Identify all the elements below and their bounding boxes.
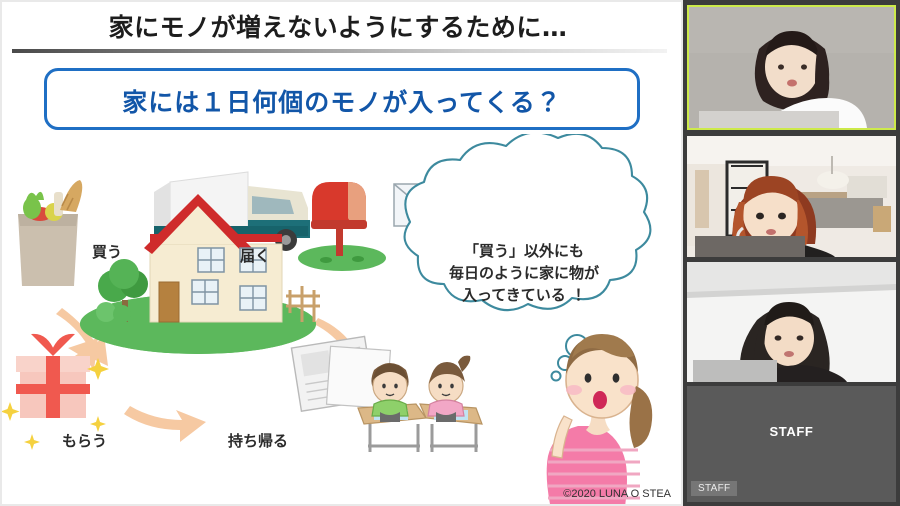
- mailbox-icon: [298, 182, 386, 271]
- copyright-notice: ©2020 LUNA O STEA: [563, 488, 671, 500]
- participant-1-video: [689, 7, 894, 128]
- participant-tile-4-placeholder[interactable]: STAFF STAFF: [687, 386, 896, 502]
- participant-tile-2[interactable]: [687, 136, 896, 257]
- arrow-from-school: [124, 406, 206, 442]
- shared-slide: 家にモノが増えないようにするために… 家には１日何個のモノが入ってくる？: [0, 0, 683, 506]
- placeholder-label: STAFF: [687, 424, 896, 439]
- label-receive: もらう: [62, 430, 107, 451]
- slide-title: 家にモノが増えないようにするために…: [2, 8, 674, 44]
- thought-trail-bubble-3: [552, 372, 561, 381]
- bubble-line-1: 「買う」以外にも: [464, 242, 584, 260]
- label-buy: 買う: [92, 241, 122, 262]
- participant-name-badge: STAFF: [691, 481, 737, 496]
- label-bring-home: 持ち帰る: [228, 430, 288, 451]
- participant-3-video: [687, 262, 896, 382]
- bubble-line-3: 入ってきている ！: [461, 286, 586, 304]
- label-delivered: 届く: [240, 245, 270, 266]
- bubble-line-2: 毎日のように家に物が: [449, 264, 600, 282]
- question-box: 家には１日何個のモノが入ってくる？: [44, 68, 640, 130]
- participant-video-rail: STAFF STAFF: [683, 0, 900, 506]
- meeting-screen-share-window: 家にモノが増えないようにするために… 家には１日何個のモノが入ってくる？: [0, 0, 900, 506]
- title-divider: [12, 49, 667, 53]
- question-box-text: 家には１日何個のモノが入ってくる？: [47, 83, 637, 119]
- participant-2-video: [687, 136, 896, 257]
- students-icon: [358, 356, 482, 452]
- participant-tile-1[interactable]: [687, 5, 896, 130]
- participant-tile-3[interactable]: [687, 262, 896, 382]
- grocery-bag-icon: [18, 180, 82, 286]
